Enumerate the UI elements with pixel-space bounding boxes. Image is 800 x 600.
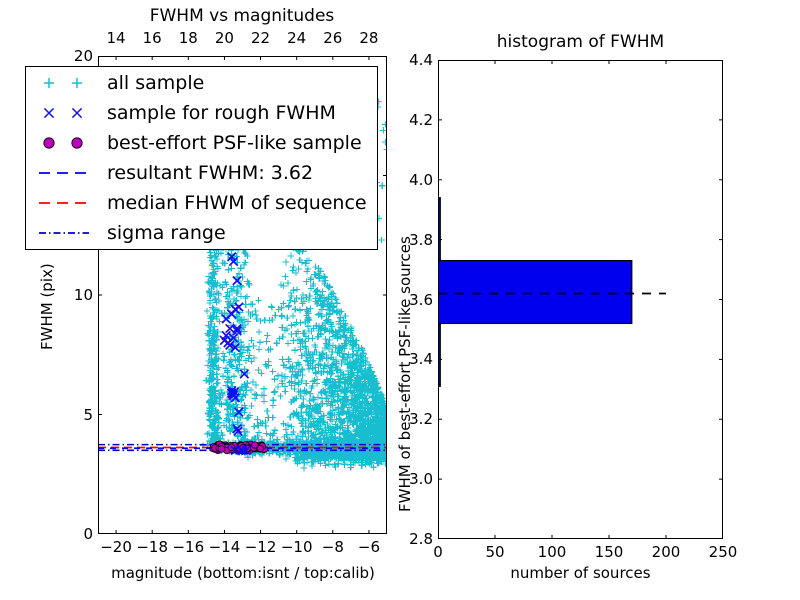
- legend-item-label: sample for rough FWHM: [107, 98, 336, 128]
- legend-item-label: sigma range: [107, 218, 226, 248]
- legend-item-label: all sample: [107, 68, 204, 98]
- figure-canvas: FWHM vs magnitudes 1416182022242628 −20−…: [0, 0, 800, 600]
- left-xaxis-label: magnitude (bottom:isnt / top:calib): [93, 564, 393, 582]
- dashdot-line: [29, 218, 107, 248]
- tick-label: 150: [579, 543, 639, 561]
- legend-item-label: best-effort PSF-like sample: [107, 128, 362, 158]
- right-yaxis-label: FWHM of best-effort PSF-like sources: [396, 236, 414, 512]
- tick-label: 0: [53, 525, 93, 543]
- left-yaxis-label: FWHM (pix): [38, 263, 56, 350]
- right-axes-frame: [438, 60, 723, 539]
- tick-label: 28: [339, 29, 399, 47]
- dashed-line: [29, 188, 107, 218]
- tick-label: 4.0: [393, 171, 433, 189]
- tick-label: 250: [693, 543, 753, 561]
- legend-item[interactable]: sigma range: [29, 218, 377, 248]
- tick-label: 10: [53, 286, 93, 304]
- legend-item[interactable]: best-effort PSF-like sample: [29, 128, 377, 158]
- dashed-line: [29, 158, 107, 188]
- legend-item[interactable]: sample for rough FWHM: [29, 98, 377, 128]
- tick-label: 5: [53, 406, 93, 424]
- legend-item[interactable]: all sample: [29, 68, 377, 98]
- legend-item-label: median FHWM of sequence: [107, 188, 367, 218]
- left-panel-title: FWHM vs magnitudes: [98, 6, 386, 26]
- tick-label: 4.2: [393, 111, 433, 129]
- circle-marker: [29, 128, 107, 158]
- right-panel-title: histogram of FWHM: [438, 32, 723, 52]
- tick-label: 4.4: [393, 51, 433, 69]
- tick-label: −6: [339, 538, 399, 556]
- legend-item[interactable]: median FHWM of sequence: [29, 188, 377, 218]
- tick-label: 50: [465, 543, 525, 561]
- legend: all samplesample for rough FWHMbest-effo…: [25, 66, 378, 250]
- legend-item-label: resultant FWHM: 3.62: [107, 158, 313, 188]
- tick-label: 100: [522, 543, 582, 561]
- tick-label: 200: [636, 543, 696, 561]
- tick-label: 20: [53, 47, 93, 65]
- legend-item[interactable]: resultant FWHM: 3.62: [29, 158, 377, 188]
- plus-marker: [29, 68, 107, 98]
- cross-marker: [29, 98, 107, 128]
- tick-label: 2.8: [393, 530, 433, 548]
- right-xaxis-label: number of sources: [438, 564, 723, 582]
